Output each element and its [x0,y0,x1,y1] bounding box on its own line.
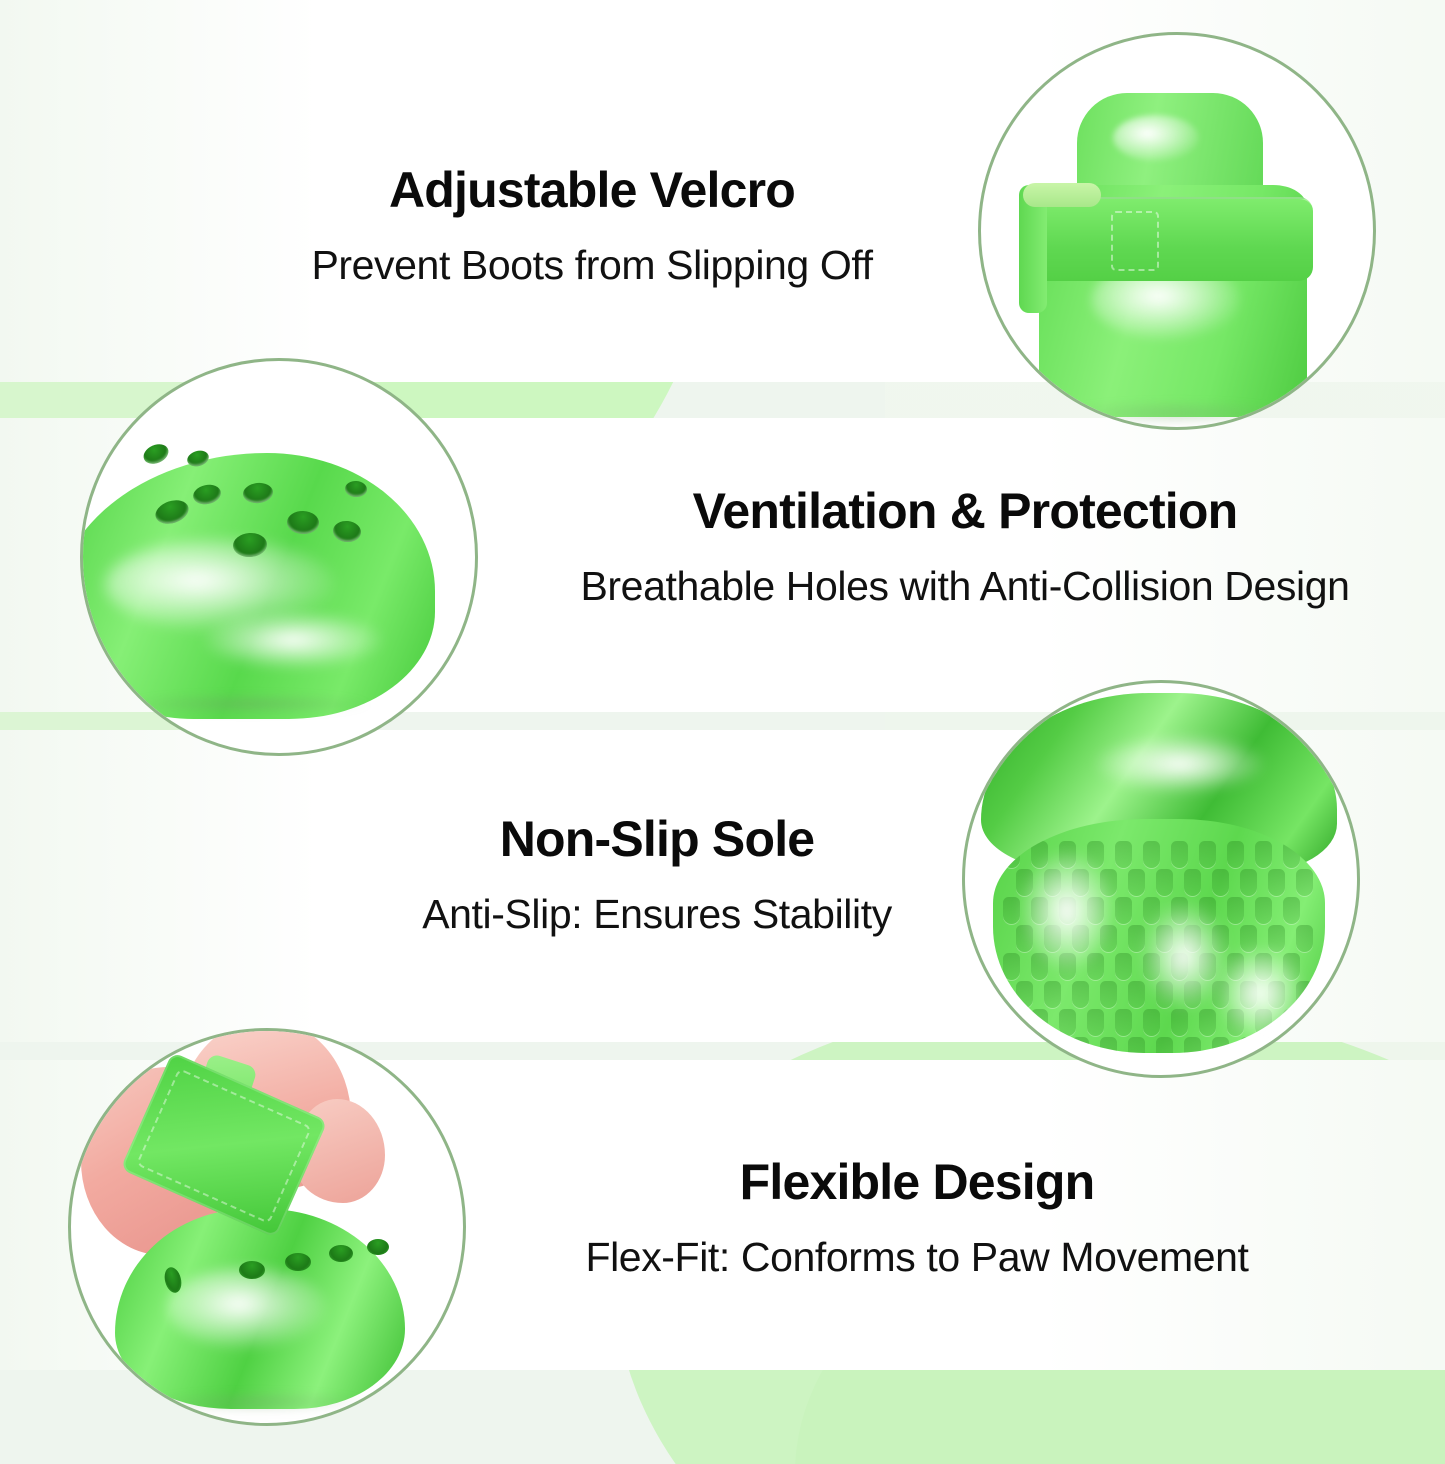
feature-text-non-slip-sole: Non-Slip Sole Anti-Slip: Ensures Stabili… [352,812,962,938]
boot-drop-shadow [1061,401,1291,425]
tread-lug [1255,897,1272,924]
tread-lug [1003,953,1020,980]
tread-lug [1003,1009,1020,1036]
boot-ventilation-illustration [83,361,475,753]
boot-toe-highlight-secondary [203,611,383,669]
feature-subtitle: Flex-Fit: Conforms to Paw Movement [512,1234,1322,1281]
tread-lug [1240,869,1257,896]
tread-lug [1156,869,1173,896]
feature-title: Ventilation & Protection [500,484,1430,539]
tread-lug [1003,841,1020,868]
feature-title: Flexible Design [512,1155,1322,1210]
sole-highlight-right [1217,947,1303,1039]
feature-title: Adjustable Velcro [232,163,952,218]
tread-lug [1087,1009,1104,1036]
tread-lug [1171,841,1188,868]
tread-lug [1128,869,1145,896]
ventilation-hole [239,1261,265,1279]
tread-lug [1059,1009,1076,1036]
boot-drop-shadow [147,1391,367,1413]
tread-lug [1184,869,1201,896]
product-photo-adjustable-velcro [978,32,1376,430]
tread-lug [1296,869,1313,896]
tread-lug [1072,1037,1089,1053]
tread-lug [1016,1037,1033,1053]
ventilation-hole [285,1253,311,1271]
velcro-strap-stitching [1111,211,1159,271]
boot-flex-illustration [71,1031,463,1423]
boot-cuff-highlight [1113,115,1199,161]
product-photo-ventilation-protection [80,358,478,756]
tread-lug [1143,1009,1160,1036]
sole-highlight-center [1141,901,1227,1011]
sole-highlight-top [1095,735,1265,793]
tread-lug [1184,1037,1201,1053]
tread-lug [1115,1009,1132,1036]
tread-lug [1031,1009,1048,1036]
tread-lug [1296,1037,1313,1053]
tread-lug [1171,1009,1188,1036]
product-photo-flexible-design [68,1028,466,1426]
tread-lug [1283,897,1300,924]
tread-lug [1255,841,1272,868]
tread-lug [1128,981,1145,1008]
ventilation-hole [367,1239,389,1255]
boot-velcro-illustration [981,35,1373,427]
feature-text-flexible-design: Flexible Design Flex-Fit: Conforms to Pa… [512,1155,1322,1281]
ventilation-hole [140,440,171,467]
tread-lug [1072,981,1089,1008]
tread-lug [1296,925,1313,952]
tread-lug [1283,841,1300,868]
product-photo-non-slip-sole [962,680,1360,1078]
sole-highlight-left [1021,851,1113,971]
tread-lug [1268,1037,1285,1053]
tread-lug [1227,897,1244,924]
tread-lug [1044,1037,1061,1053]
tread-lug [1212,869,1229,896]
tread-lug [1115,841,1132,868]
tread-lug [1212,1037,1229,1053]
feature-subtitle: Breathable Holes with Anti-Collision Des… [500,563,1430,610]
feature-subtitle: Anti-Slip: Ensures Stability [352,891,962,938]
tread-lug [1156,1037,1173,1053]
feature-text-ventilation-protection: Ventilation & Protection Breathable Hole… [500,484,1430,610]
boot-body-highlight [167,1267,327,1349]
tread-lug [1227,841,1244,868]
tread-lug [1199,841,1216,868]
feature-text-adjustable-velcro: Adjustable Velcro Prevent Boots from Sli… [232,163,952,289]
ventilation-hole [329,1245,353,1262]
velcro-strap [1021,197,1313,281]
tread-lug [1115,953,1132,980]
tread-lug [1128,1037,1145,1053]
tread-lug [1240,1037,1257,1053]
tread-lug [1115,897,1132,924]
tread-lug [1100,1037,1117,1053]
boot-drop-shadow [123,693,373,715]
feature-title: Non-Slip Sole [352,812,962,867]
tread-lug [1143,841,1160,868]
tread-lug [1199,1009,1216,1036]
tread-lug [1100,981,1117,1008]
strap-buckle [1023,183,1101,207]
feature-infographic-poster: Adjustable Velcro Prevent Boots from Sli… [0,0,1445,1464]
tread-lug [1003,897,1020,924]
tread-lug [1044,981,1061,1008]
feature-subtitle: Prevent Boots from Slipping Off [232,242,952,289]
tread-lug [1268,869,1285,896]
tread-lug [1016,981,1033,1008]
boot-sole-illustration [965,683,1357,1075]
